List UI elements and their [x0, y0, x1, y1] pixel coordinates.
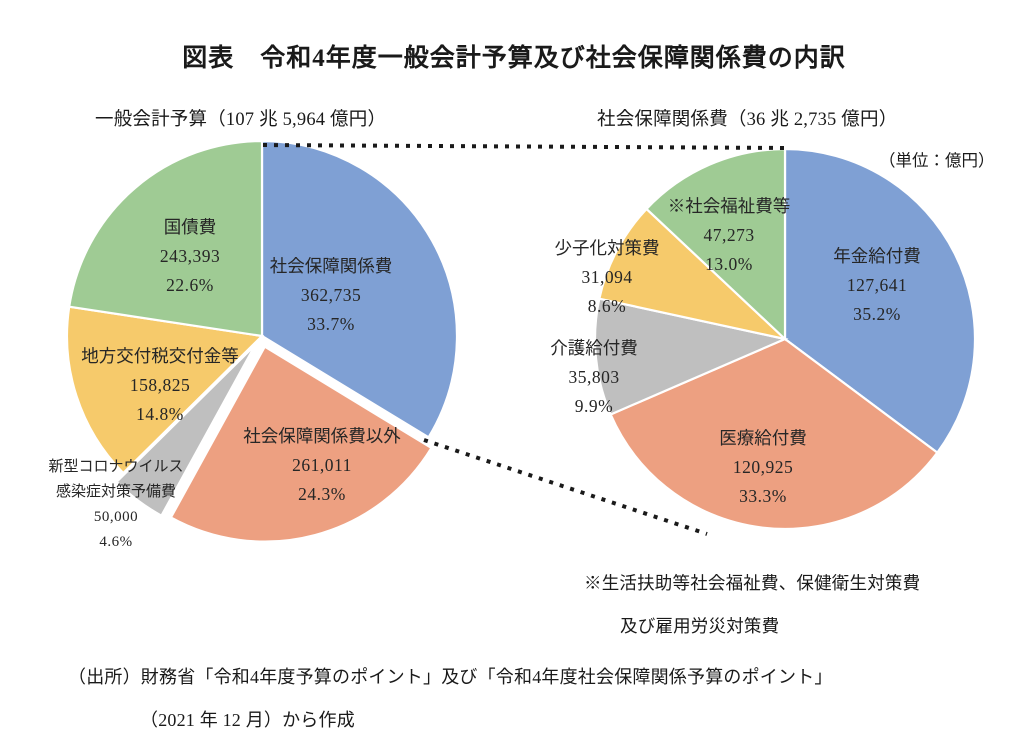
footnote-line-2: 及び雇用労災対策費	[620, 613, 779, 638]
pie-charts-canvas: 社会保障関係費362,73533.7% 社会保障関係費以外261,01124.3…	[0, 0, 1028, 740]
footnote-line-1: ※生活扶助等社会福祉費、保健衛生対策費	[584, 570, 920, 595]
connector-line-top	[263, 145, 786, 148]
source-line-2: （2021 年 12 月）から作成	[140, 706, 355, 732]
figure-root: 図表 令和4年度一般会計予算及び社会保障関係費の内訳 一般会計予算（107 兆 …	[0, 0, 1028, 740]
left-label-national-debt: 国債費243,39322.6%	[160, 217, 220, 295]
left-slice-national-debt[interactable]	[69, 141, 262, 336]
right-pie-chart: 年金給付費127,64135.2% 医療給付費120,92533.3% 介護給付…	[550, 149, 975, 529]
left-pie-chart: 社会保障関係費362,73533.7% 社会保障関係費以外261,01124.3…	[48, 141, 457, 550]
source-line-1: （出所）財務省「令和4年度予算のポイント」及び「令和4年度社会保障関係予算のポイ…	[68, 663, 833, 689]
